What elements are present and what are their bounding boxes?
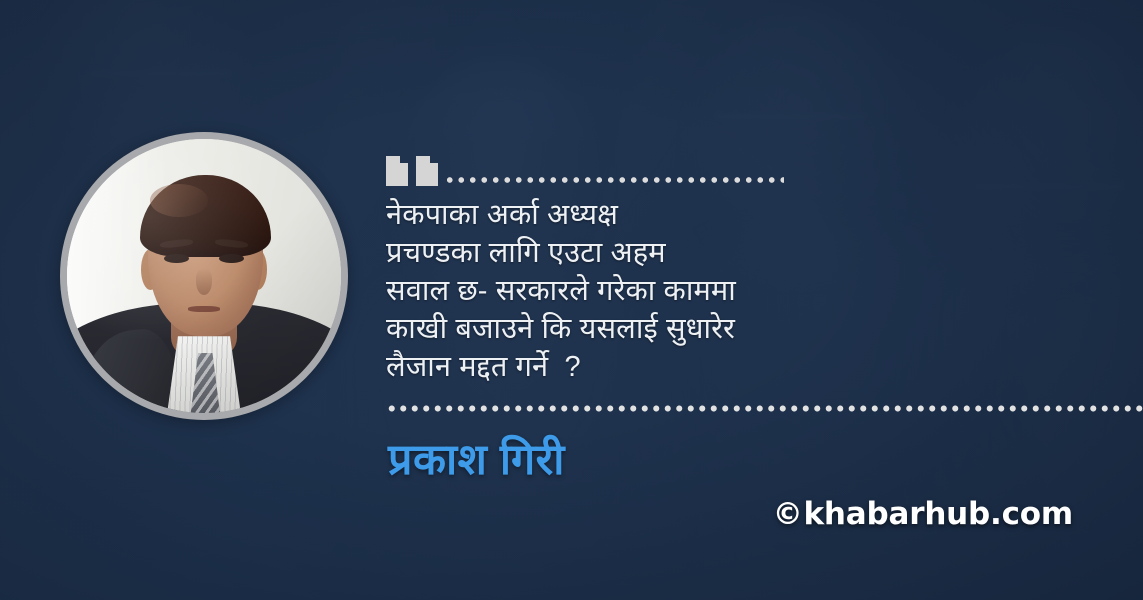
quote-card: नेकपाका अर्का अध्यक्ष प्रचण्डका लागि एउट… [0, 0, 1143, 600]
watermark: © khabarhub.com [773, 496, 1073, 532]
quote-line: काखी बजाउने कि यसलाई सुधारेर [386, 310, 1143, 348]
photo-shading [67, 139, 341, 413]
avatar [60, 132, 348, 420]
dotted-divider-bottom [386, 404, 1143, 413]
author-name: प्रकाश गिरी [388, 432, 565, 488]
quote-line: सवाल छ- सरकारले गरेका काममा [386, 272, 1143, 310]
quote-line: नेकपाका अर्का अध्यक्ष [386, 196, 1143, 234]
quote-mark-icon [386, 156, 438, 186]
watermark-site: khabarhub.com [804, 496, 1073, 532]
quote-text: नेकपाका अर्का अध्यक्ष प्रचण्डका लागि एउट… [386, 196, 1143, 386]
quote-line: लैजान मद्दत गर्ने ? [386, 348, 1143, 386]
copyright-icon: © [773, 497, 803, 532]
quote-header [386, 150, 1143, 186]
dotted-divider-top [444, 176, 784, 184]
quote-block: नेकपाका अर्का अध्यक्ष प्रचण्डका लागि एउट… [386, 150, 1143, 386]
quote-line: प्रचण्डका लागि एउटा अहम [386, 234, 1143, 272]
avatar-photo [67, 139, 341, 413]
